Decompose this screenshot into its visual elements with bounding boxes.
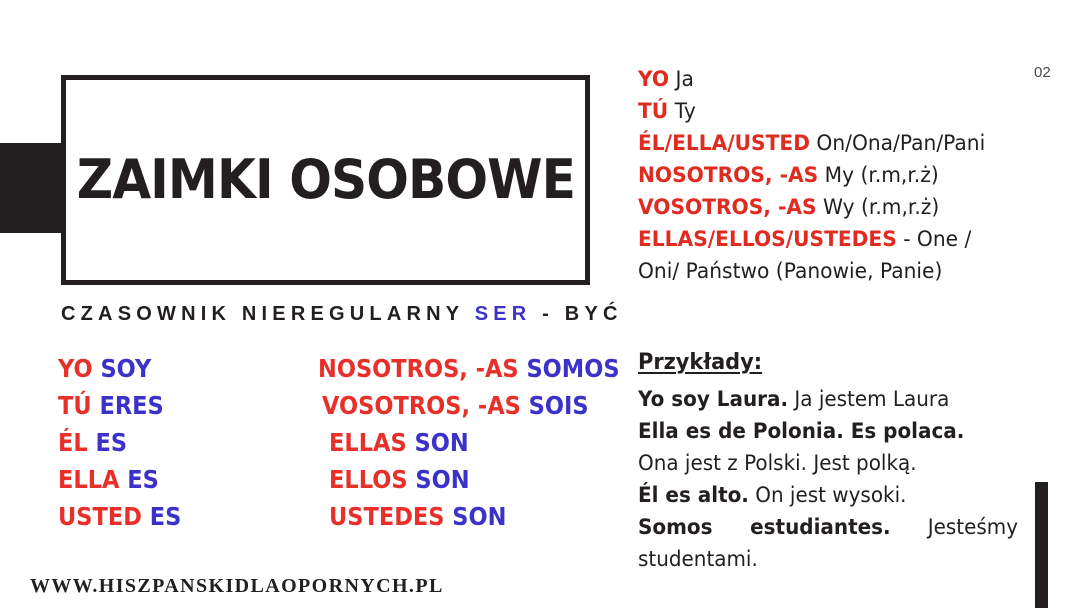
example-spanish: Somos estudiantes. [638,515,891,539]
pronoun-spanish: YO [638,67,669,92]
page-number: 02 [1034,64,1051,81]
conjugation-cell-left: YO SOY [58,355,292,383]
example-line: Ella es de Polonia. Es polaca. [638,415,1009,447]
pronoun: USTEDES [329,502,452,531]
pronoun-list-item: VOSOTROS, -AS Wy (r.m,r.ż) [638,192,1006,224]
verb-form: ERES [99,391,163,420]
conjugation-cell-right: NOSOTROS, -AS SOMOS [318,355,588,383]
verb-form: SOY [100,354,151,383]
title-box: ZAIMKI OSOBOWE [61,75,590,285]
example-polish: studentami. [638,547,758,571]
pronoun: TÚ [58,391,99,420]
conjugation-cell-right: ELLOS SON [329,466,589,494]
pronoun-list-item: Oni/ Państwo (Panowie, Panie) [638,256,1006,288]
examples-section: Przykłady: Yo soy Laura. Ja jestem Laura… [638,350,1028,575]
pronoun-spanish: ELLAS/ELLOS/USTEDES [638,227,897,252]
pronoun-list-item: YO Ja [638,64,1006,96]
conjugation-cell-left: TÚ ERES [58,392,295,420]
example-spanish: Él es alto. [638,483,749,507]
pronoun: ÉL [58,428,96,457]
conjugation-cell-left: USTED ES [58,503,302,531]
example-line: Él es alto. On jest wysoki. [638,479,1009,511]
example-line: Yo soy Laura. Ja jestem Laura [638,383,1009,415]
subtitle-before: CZASOWNIK NIEREGULARNY [61,303,475,325]
example-spanish: Ella es de Polonia. Es polaca. [638,419,964,443]
pronoun: YO [58,354,100,383]
verb-form: ES [150,502,182,531]
verb-form: ES [127,465,159,494]
subtitle: CZASOWNIK NIEREGULARNY SER - BYĆ [61,303,623,326]
example-line: studentami. [638,543,1009,575]
pronoun-polish: My (r.m,r.ż) [818,163,938,188]
pronoun-polish: Wy (r.m,r.ż) [817,195,940,220]
verb-form: SON [453,502,507,531]
pronoun-polish: - One / [897,227,972,252]
conjugation-row: TÚ ERESVOSOTROS, -AS SOIS [58,392,618,429]
pronoun-list: YO JaTÚ TyÉL/ELLA/USTED On/Ona/Pan/PaniN… [638,64,1030,288]
subtitle-after: - BYĆ [531,303,622,325]
pronoun-polish: Ja [669,67,694,92]
slide-canvas: 02 ZAIMKI OSOBOWE CZASOWNIK NIEREGULARNY… [0,0,1080,608]
pronoun: ELLAS [329,428,415,457]
conjugation-cell-left: ÉL ES [58,429,302,457]
pronoun-list-item: TÚ Ty [638,96,1006,128]
conjugation-table: YO SOYNOSOTROS, -AS SOMOSTÚ ERESVOSOTROS… [58,355,618,540]
pronoun-polish: On/Ona/Pan/Pani [810,131,985,156]
right-decorative-bar [1035,482,1048,608]
example-polish: Ona jest z Polski. Jest polką. [638,451,917,475]
pronoun-spanish: ÉL/ELLA/USTED [638,131,810,156]
pronoun-polish: Oni/ Państwo (Panowie, Panie) [638,259,942,284]
pronoun: ELLA [58,465,127,494]
conjugation-row: ELLA ESELLOS SON [58,466,618,503]
pronoun-polish: Ty [668,99,696,124]
pronoun: USTED [58,502,150,531]
verb-form: SOMOS [526,354,619,383]
page-title: ZAIMKI OSOBOWE [76,153,574,207]
examples-heading: Przykłady: [638,350,1009,375]
pronoun-spanish: NOSOTROS, -AS [638,163,818,188]
conjugation-row: YO SOYNOSOTROS, -AS SOMOS [58,355,618,392]
pronoun-list-item: ELLAS/ELLOS/USTEDES - One / [638,224,1006,256]
verb-form: SON [415,428,469,457]
verb-form: SOIS [528,391,588,420]
pronoun: VOSOTROS, -AS [322,391,529,420]
verb-form: SON [416,465,470,494]
footer-url: WWW.HISZPANSKIDLAOPORNYCH.PL [30,575,444,598]
example-polish: Ja jestem Laura [788,387,949,411]
pronoun-spanish: TÚ [638,99,668,124]
pronoun: NOSOTROS, -AS [318,354,526,383]
pronoun-list-item: NOSOTROS, -AS My (r.m,r.ż) [638,160,1006,192]
example-polish: On jest wysoki. [749,483,907,507]
conjugation-cell-right: VOSOTROS, -AS SOIS [322,392,589,420]
verb-form: ES [96,428,128,457]
conjugation-row: USTED ESUSTEDES SON [58,503,618,540]
conjugation-cell-right: USTEDES SON [329,503,589,531]
example-polish: Jesteśmy [891,515,1018,539]
conjugation-row: ÉL ESELLAS SON [58,429,618,466]
examples-lines: Yo soy Laura. Ja jestem LauraElla es de … [638,383,1028,575]
example-spanish: Yo soy Laura. [638,387,788,411]
pronoun-list-item: ÉL/ELLA/USTED On/Ona/Pan/Pani [638,128,1006,160]
example-line: Ona jest z Polski. Jest polką. [638,447,1009,479]
subtitle-verb: SER [475,303,532,325]
example-line: Somos estudiantes. Jesteśmy [638,511,1018,543]
left-decorative-tab [0,143,64,233]
pronoun-spanish: VOSOTROS, -AS [638,195,817,220]
conjugation-cell-right: ELLAS SON [329,429,589,457]
conjugation-cell-left: ELLA ES [58,466,302,494]
pronoun: ELLOS [329,465,415,494]
